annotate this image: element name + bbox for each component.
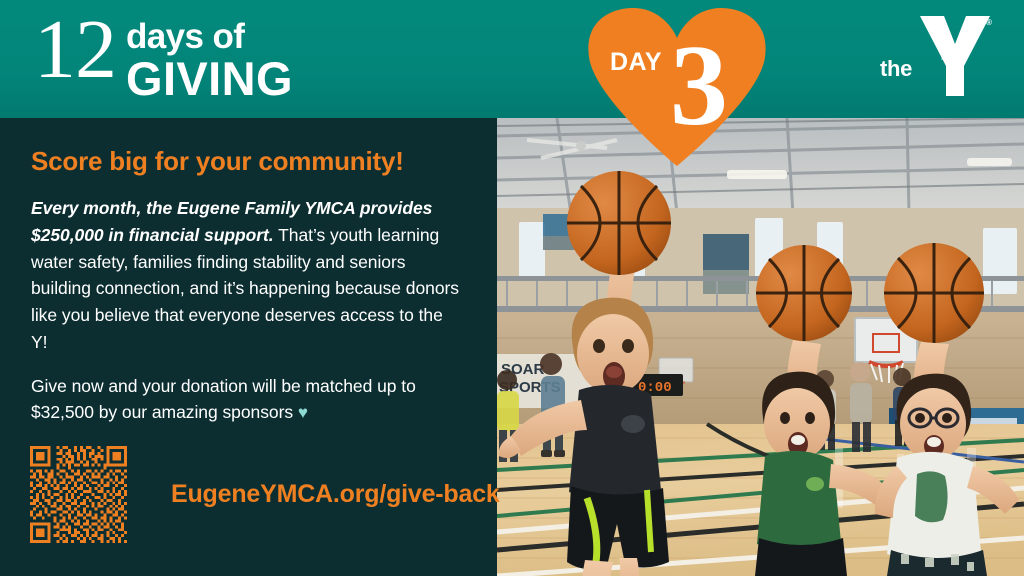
gym-photo: SOAR SPORTS 0:00 (497, 118, 1024, 576)
campaign-giving: GIVING (126, 55, 293, 102)
lead-paragraph: Every month, the Eugene Family YMCA prov… (31, 195, 463, 356)
day-badge: DAY 3 (586, 6, 768, 166)
gym-photo-illustration: SOAR SPORTS 0:00 (497, 118, 1024, 576)
ymca-the-label: the (880, 56, 912, 82)
headline: Score big for your community! (31, 146, 463, 177)
ymca-wordmark: YMCA (940, 28, 950, 60)
campaign-number: 12 (34, 11, 116, 88)
cta-url[interactable]: EugeneYMCA.org/give-back (171, 480, 500, 509)
match-paragraph: Give now and your donation will be match… (31, 373, 463, 427)
day-number: 3 (670, 28, 728, 144)
campaign-days-of: days of (126, 19, 293, 54)
match-text: Give now and your donation will be match… (31, 376, 416, 423)
call-to-action[interactable]: EugeneYMCA.org/give-back (30, 446, 500, 543)
campaign-lockup: 12 days of GIVING (34, 13, 293, 102)
ymca-logo: the ® YMCA (880, 14, 1000, 100)
heart-glyph-icon: ♥ (298, 403, 308, 422)
qr-code[interactable] (30, 446, 127, 543)
day-badge-text: DAY 3 (586, 6, 768, 166)
ymca-y-icon (918, 14, 992, 98)
day-label: DAY (610, 48, 662, 77)
registered-trademark-icon: ® (986, 18, 992, 27)
copy-column: Score big for your community! Every mont… (31, 146, 463, 426)
campaign-words: days of GIVING (126, 13, 293, 102)
promo-poster: 12 days of GIVING DAY 3 the ® YMCA Score… (0, 0, 1024, 576)
